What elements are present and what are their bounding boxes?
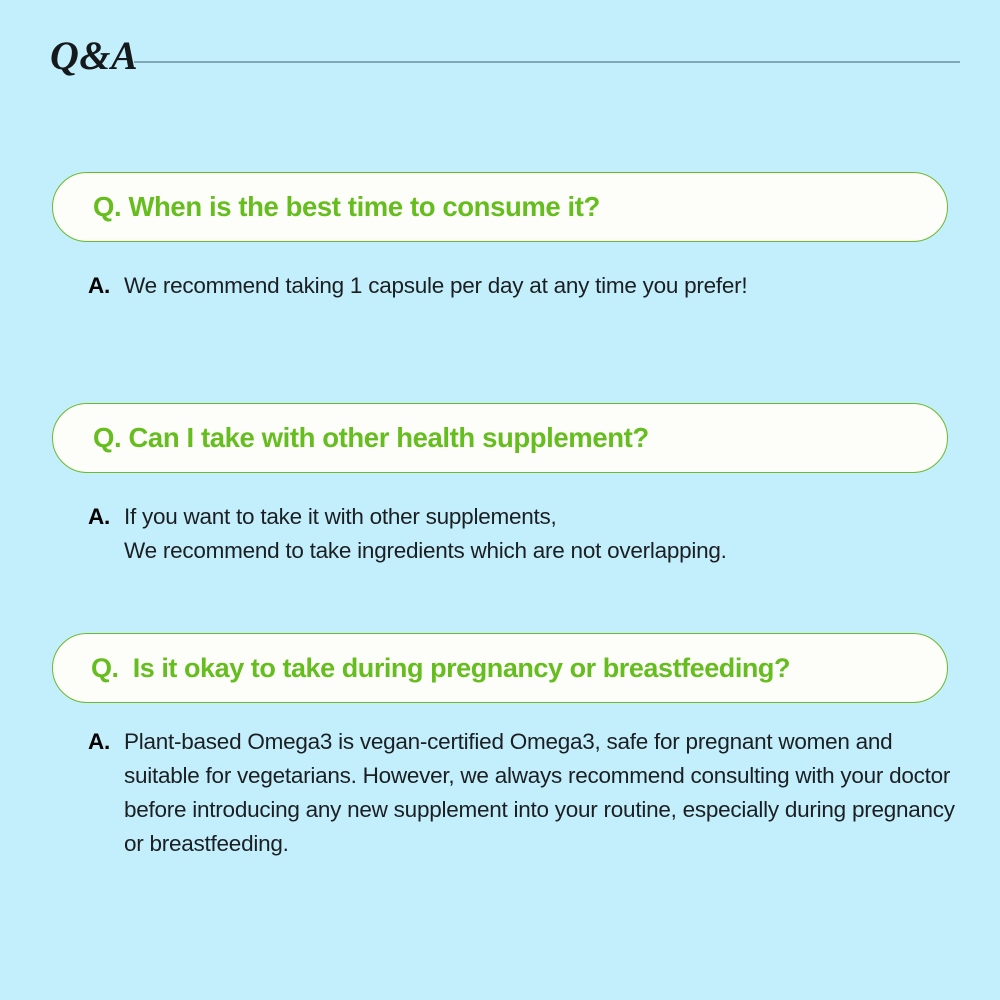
answer-text: If you want to take it with other supple…: [124, 500, 964, 568]
answer-block: A. Plant-based Omega3 is vegan-certified…: [88, 725, 964, 861]
qa-item: Q. Is it okay to take during pregnancy o…: [0, 633, 1000, 861]
question-pill[interactable]: Q. Is it okay to take during pregnancy o…: [52, 633, 948, 703]
answer-marker: A.: [88, 725, 110, 759]
question-pill[interactable]: Q. Can I take with other health suppleme…: [52, 403, 948, 473]
answer-text: We recommend taking 1 capsule per day at…: [124, 269, 964, 303]
question-text: Q. Can I take with other health suppleme…: [93, 424, 649, 452]
question-pill[interactable]: Q. When is the best time to consume it?: [52, 172, 948, 242]
answer-marker: A.: [88, 500, 110, 534]
question-text: Q. When is the best time to consume it?: [93, 193, 600, 221]
qa-list: Q. When is the best time to consume it? …: [0, 0, 1000, 1000]
answer-marker: A.: [88, 269, 110, 303]
qa-item: Q. Can I take with other health suppleme…: [0, 403, 1000, 568]
question-text: Q. Is it okay to take during pregnancy o…: [91, 655, 790, 682]
answer-block: A. We recommend taking 1 capsule per day…: [88, 269, 964, 303]
answer-block: A. If you want to take it with other sup…: [88, 500, 964, 568]
answer-text: Plant-based Omega3 is vegan-certified Om…: [124, 725, 964, 861]
qa-item: Q. When is the best time to consume it? …: [0, 172, 1000, 303]
